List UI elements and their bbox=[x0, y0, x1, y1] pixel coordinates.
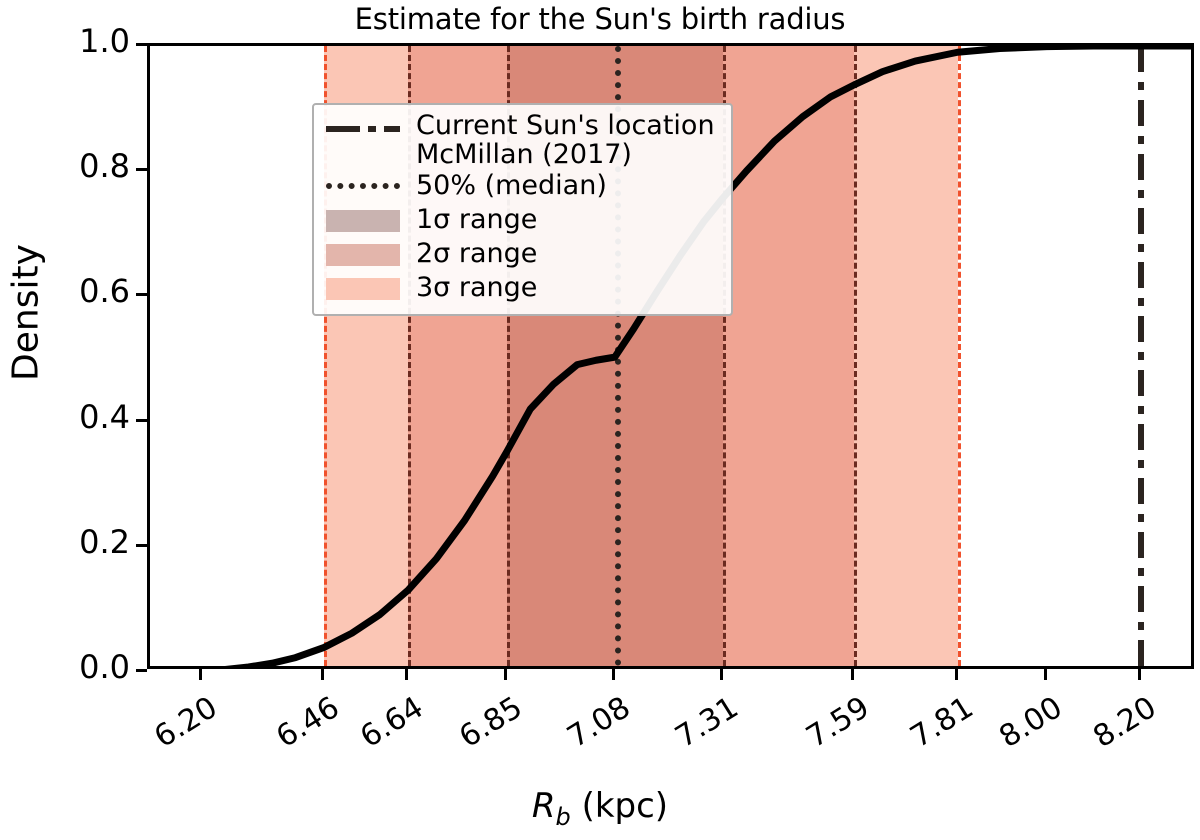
x-tick-7.59 bbox=[851, 669, 854, 680]
x-tick-8.00 bbox=[1044, 669, 1047, 680]
x-axis-label: Rb (kpc) bbox=[0, 786, 1200, 831]
legend-item-median: 50% (median) bbox=[324, 169, 721, 203]
x-tick-label-6.20: 6.20 bbox=[127, 690, 224, 768]
y-tick-0.6 bbox=[136, 293, 147, 296]
plot-area: Current Sun's location McMillan (2017) 5… bbox=[147, 43, 1194, 669]
sigma3-swatch-icon bbox=[324, 271, 402, 305]
y-tick-0.8 bbox=[136, 168, 147, 171]
page-title: Estimate for the Sun's birth radius bbox=[0, 2, 1200, 36]
dash-dot-line-icon bbox=[324, 112, 402, 146]
y-axis-label: Density bbox=[6, 163, 47, 463]
legend-item-current-sun-location: Current Sun's location McMillan (2017) bbox=[324, 112, 721, 169]
y-tick-label-1.0: 1.0 bbox=[10, 22, 130, 60]
y-tick-0.4 bbox=[136, 419, 147, 422]
x-tick-label-8.00: 8.00 bbox=[972, 690, 1069, 768]
legend-label-sigma3: 3σ range bbox=[416, 274, 537, 303]
y-tick-label-0.0: 0.0 bbox=[10, 648, 130, 686]
x-tick-label-7.81: 7.81 bbox=[883, 690, 980, 768]
y-tick-label-0.2: 0.2 bbox=[10, 523, 130, 561]
y-tick-1.0 bbox=[136, 43, 147, 46]
x-axis-label-unit: (kpc) bbox=[571, 786, 668, 826]
legend-item-sigma1: 1σ range bbox=[324, 203, 721, 237]
y-tick-0.2 bbox=[136, 544, 147, 547]
x-tick-8.20 bbox=[1138, 669, 1141, 680]
x-tick-6.64 bbox=[405, 669, 408, 680]
legend-label-median: 50% (median) bbox=[416, 172, 607, 201]
legend-label-sun-line1: Current Sun's location bbox=[416, 110, 715, 141]
figure-canvas: Estimate for the Sun's birth radius Curr… bbox=[0, 0, 1200, 840]
y-tick-0.0 bbox=[136, 669, 147, 672]
x-axis-label-sub: b bbox=[556, 803, 571, 831]
x-tick-label-7.59: 7.59 bbox=[779, 690, 876, 768]
x-tick-label-7.31: 7.31 bbox=[648, 690, 745, 768]
legend-item-sigma3: 3σ range bbox=[324, 271, 721, 305]
legend-label-sigma1: 1σ range bbox=[416, 206, 537, 235]
x-tick-label-6.85: 6.85 bbox=[432, 690, 529, 768]
x-tick-7.81 bbox=[955, 669, 958, 680]
x-tick-label-7.08: 7.08 bbox=[540, 690, 637, 768]
x-tick-6.20 bbox=[199, 669, 202, 680]
sigma1-swatch-icon bbox=[324, 203, 402, 237]
x-axis-label-main: R bbox=[532, 786, 556, 826]
x-tick-6.46 bbox=[321, 669, 324, 680]
x-tick-label-6.64: 6.64 bbox=[333, 690, 430, 768]
sigma2-swatch-icon bbox=[324, 237, 402, 271]
legend-label-sigma2: 2σ range bbox=[416, 240, 537, 269]
x-tick-6.85 bbox=[504, 669, 507, 680]
x-tick-7.31 bbox=[720, 669, 723, 680]
x-tick-label-8.20: 8.20 bbox=[1066, 690, 1163, 768]
legend: Current Sun's location McMillan (2017) 5… bbox=[312, 103, 733, 316]
x-tick-7.08 bbox=[612, 669, 615, 680]
legend-item-sigma2: 2σ range bbox=[324, 237, 721, 271]
legend-label-sun-line2: McMillan (2017) bbox=[416, 139, 632, 170]
dotted-line-icon bbox=[324, 169, 402, 203]
x-tick-label-6.46: 6.46 bbox=[249, 690, 346, 768]
